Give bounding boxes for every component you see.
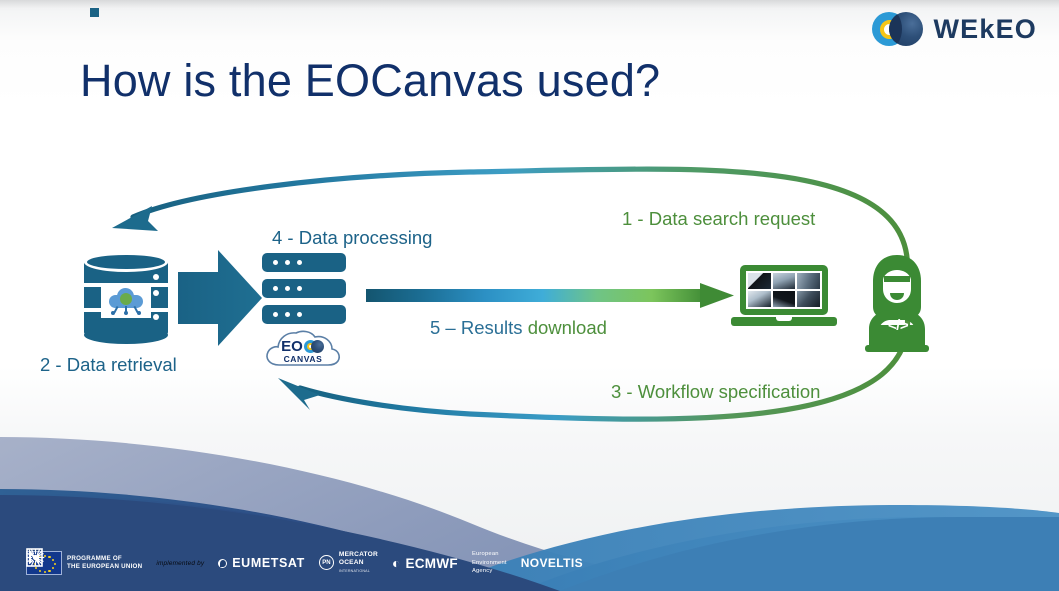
database-cloud-badge — [101, 284, 151, 318]
server-unit — [262, 279, 346, 298]
eocanvas-logo-icon: EO CANVAS — [262, 327, 344, 369]
result-thumbnail — [748, 291, 771, 307]
code-symbol: </> — [875, 313, 921, 337]
step-5-label-blue-part: 5 – Results — [430, 317, 528, 338]
eocanvas-marks-icon — [304, 340, 325, 353]
step-5-label-green-part: download — [528, 317, 607, 338]
result-thumbnail — [748, 273, 771, 289]
eea-line-2: Environment — [472, 560, 507, 566]
step-1-label: 1 - Data search request — [622, 208, 815, 230]
slide-footer: PROGRAMME OF THE EUROPEAN UNION implemen… — [0, 413, 1059, 591]
results-thumbnail-grid — [748, 273, 820, 307]
eumetsat-icon — [218, 559, 227, 568]
result-thumbnail — [797, 291, 820, 307]
server-unit — [262, 253, 346, 272]
eocanvas-letters: EO — [281, 339, 303, 354]
partner-logo-mercator-ocean: PN MERCATOR OCEAN INTERNATIONAL — [319, 551, 378, 576]
mercator-ocean-icon: PN — [319, 555, 334, 570]
mercator-line-1: MERCATOR — [339, 551, 378, 558]
noveltis-wordmark: NOVELTIS — [521, 556, 583, 570]
eocanvas-word: CANVAS — [284, 355, 323, 364]
eocanvas-square-badge — [90, 8, 99, 17]
loop-arrows-svg — [0, 0, 1059, 470]
partner-logo-noveltis: NOVELTIS — [521, 556, 583, 570]
eu-line-1: PROGRAMME OF — [67, 555, 122, 562]
result-thumbnail — [773, 273, 796, 289]
data-retrieval-arrow — [178, 250, 262, 346]
step-2-label: 2 - Data retrieval — [40, 354, 177, 376]
step-4-label: 4 - Data processing — [272, 227, 432, 249]
loop-arc-bottom-head — [278, 378, 320, 410]
partner-logo-eea: European Environment Agency — [472, 550, 507, 576]
result-thumbnail — [773, 291, 796, 307]
slide-canvas: WEkEO How is the EOCanvas used? — [0, 0, 1059, 591]
footer-partner-logos: PROGRAMME OF THE EUROPEAN UNION implemen… — [26, 548, 583, 578]
cloud-earth-icon — [108, 288, 144, 314]
person-with-laptop-icon — [853, 253, 941, 353]
eea-line-1: European — [472, 551, 499, 557]
eocanvas-workflow-diagram: 1 - Data search request 2 - Data retriev… — [0, 0, 1059, 470]
implemented-by-label: implemented by — [156, 560, 204, 567]
server-unit — [262, 305, 346, 324]
eu-line-2: THE EUROPEAN UNION — [67, 563, 142, 570]
ecmwf-icon: ◐ — [392, 556, 400, 570]
step-5-label: 5 – Results download — [430, 317, 607, 339]
step-3-label: 3 - Workflow specification — [611, 381, 820, 403]
partner-logo-eumetsat: EUMETSAT — [218, 556, 305, 570]
mercator-ocean-wordmark: MERCATOR OCEAN INTERNATIONAL — [339, 551, 378, 576]
eea-line-3: Agency — [472, 568, 493, 574]
noveltis-icon — [26, 548, 43, 567]
server-stack-icon — [262, 253, 346, 325]
eumetsat-wordmark: EUMETSAT — [232, 556, 305, 570]
database-icon — [84, 252, 168, 344]
ecmwf-wordmark: ECMWF — [405, 556, 458, 571]
developer-icon: </> — [853, 253, 941, 353]
results-download-arrow — [366, 283, 734, 308]
mercator-line-2: OCEAN — [339, 559, 364, 566]
result-thumbnail — [797, 273, 820, 289]
mercator-sub: INTERNATIONAL — [339, 569, 370, 573]
partner-logo-ecmwf: ◐ ECMWF — [392, 556, 458, 571]
laptop-screen — [740, 265, 828, 315]
laptop-icon — [731, 265, 837, 329]
eu-programme-text: PROGRAMME OF THE EUROPEAN UNION — [67, 555, 142, 572]
eea-wordmark: European Environment Agency — [472, 550, 507, 576]
